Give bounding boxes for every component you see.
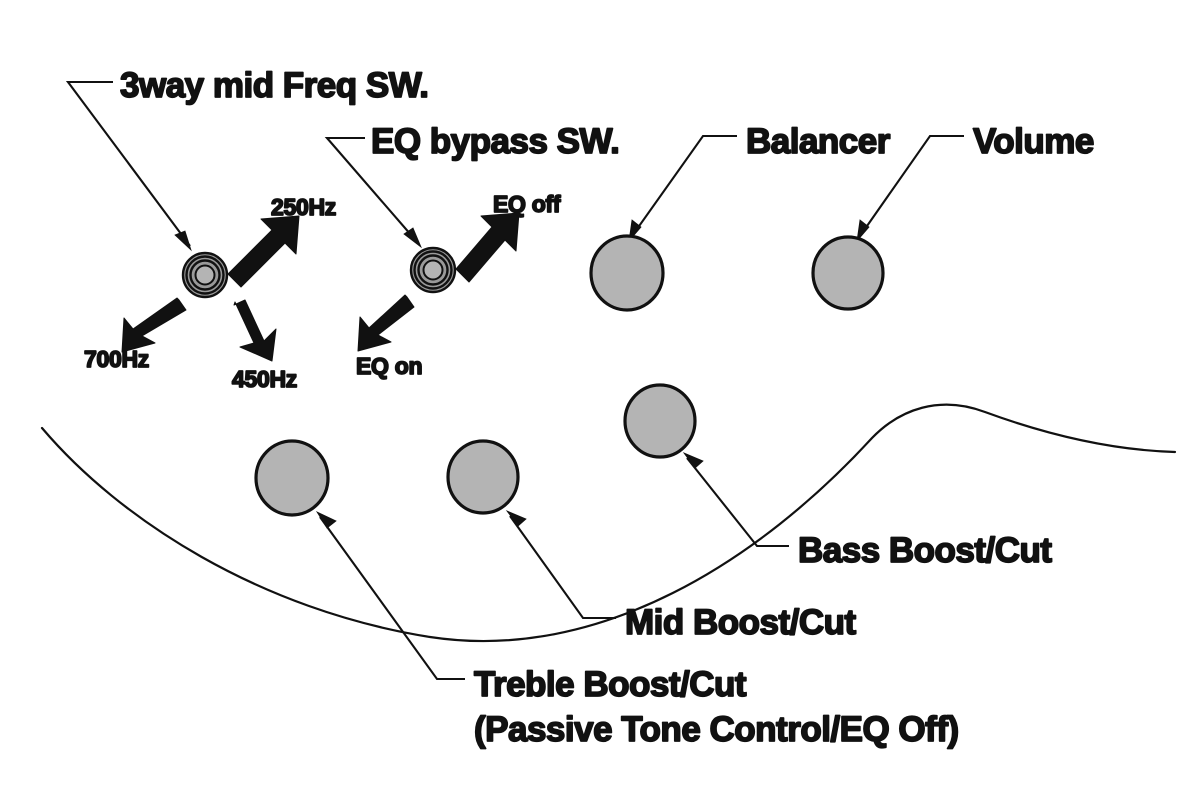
control-knob-treble-boost-cut[interactable]	[256, 441, 328, 515]
control-knob-bass-boost-cut[interactable]	[625, 385, 695, 457]
label-eq-on: EQ on	[356, 353, 422, 379]
label-mid-freq-250hz: 250Hz	[271, 194, 336, 220]
control-knob-mid-boost-cut[interactable]	[448, 441, 518, 513]
label-mid-freq-450hz: 450Hz	[232, 366, 297, 392]
control-knob-volume[interactable]	[813, 237, 883, 309]
label-treble-boost-cut-line1: Treble Boost/Cut	[474, 665, 747, 704]
label-mid-boost-cut: Mid Boost/Cut	[625, 603, 857, 642]
label-volume: Volume	[973, 122, 1094, 161]
label-3way-mid-freq-sw: 3way mid Freq SW.	[120, 66, 429, 105]
diagram-canvas: 3way mid Freq SW. EQ bypass SW. Balancer…	[0, 0, 1200, 810]
label-treble-boost-cut-line2: (Passive Tone Control/EQ Off)	[474, 710, 959, 749]
control-eq-bypass-switch[interactable]	[411, 248, 455, 292]
label-eq-bypass-sw: EQ bypass SW.	[371, 122, 619, 161]
control-knob-balancer[interactable]	[591, 236, 663, 310]
control-layout-diagram: 3way mid Freq SW. EQ bypass SW. Balancer…	[0, 0, 1200, 810]
label-bass-boost-cut: Bass Boost/Cut	[798, 531, 1052, 570]
label-balancer: Balancer	[746, 122, 891, 161]
label-eq-off: EQ off	[493, 191, 561, 217]
label-mid-freq-700hz: 700Hz	[84, 346, 149, 372]
control-3way-mid-freq-switch[interactable]	[183, 253, 227, 297]
